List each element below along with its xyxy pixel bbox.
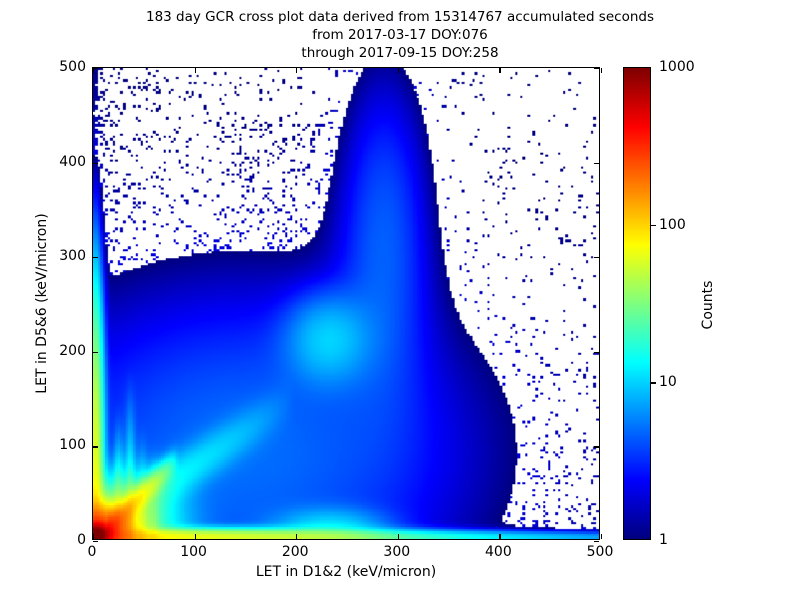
plot-title-line-2: from 2017-03-17 DOY:076 [0,26,800,44]
y-tick-right [594,446,599,447]
figure-canvas: 183 day GCR cross plot data derived from… [0,0,800,600]
colorbar [623,67,651,540]
y-tick-right [594,163,599,164]
y-tick-right [594,68,599,69]
y-tick-label-0: 0 [77,532,86,548]
y-tick-label-4: 400 [59,154,86,170]
y-tick-label-1: 100 [59,437,86,453]
x-axis-label: LET in D1&2 (keV/micron) [92,564,600,580]
y-tick-label-2: 200 [59,343,86,359]
plot-axes [92,67,600,540]
x-tick [499,534,500,539]
y-axis-label: LET in D5&6 (keV/micron) [34,213,50,393]
colorbar-tick-label-2: 100 [659,217,686,233]
y-tick [93,541,98,542]
colorbar-tick-2 [651,225,656,226]
x-tick-label-4: 400 [485,544,512,560]
x-tick [296,534,297,539]
y-tick [93,68,98,69]
plot-title: 183 day GCR cross plot data derived from… [0,8,800,62]
y-tick [93,163,98,164]
x-tick [93,534,94,539]
plot-title-line-1: 183 day GCR cross plot data derived from… [0,8,800,26]
y-tick-label-3: 300 [59,248,86,264]
y-tick-right [594,352,599,353]
colorbar-gradient [623,67,651,540]
colorbar-label: Counts [700,281,716,330]
colorbar-tick-1 [651,382,656,383]
x-tick [398,534,399,539]
x-tick-top [296,68,297,73]
y-tick-label-5: 500 [59,59,86,75]
y-tick [93,352,98,353]
x-tick-top [601,68,602,73]
x-tick [195,534,196,539]
y-tick-right [594,257,599,258]
y-tick-right [594,541,599,542]
x-tick-label-5: 500 [587,544,614,560]
y-tick [93,257,98,258]
colorbar-tick-label-0: 1 [659,532,668,548]
x-tick-top [398,68,399,73]
x-tick-top [499,68,500,73]
x-tick-top [195,68,196,73]
x-tick-label-3: 300 [383,544,410,560]
x-tick-label-1: 100 [180,544,207,560]
x-tick-label-2: 200 [282,544,309,560]
colorbar-tick-label-3: 1000 [659,59,695,75]
x-tick [601,534,602,539]
colorbar-tick-label-1: 10 [659,374,677,390]
density-heatmap [93,68,599,539]
x-tick-label-0: 0 [88,544,97,560]
y-tick [93,446,98,447]
